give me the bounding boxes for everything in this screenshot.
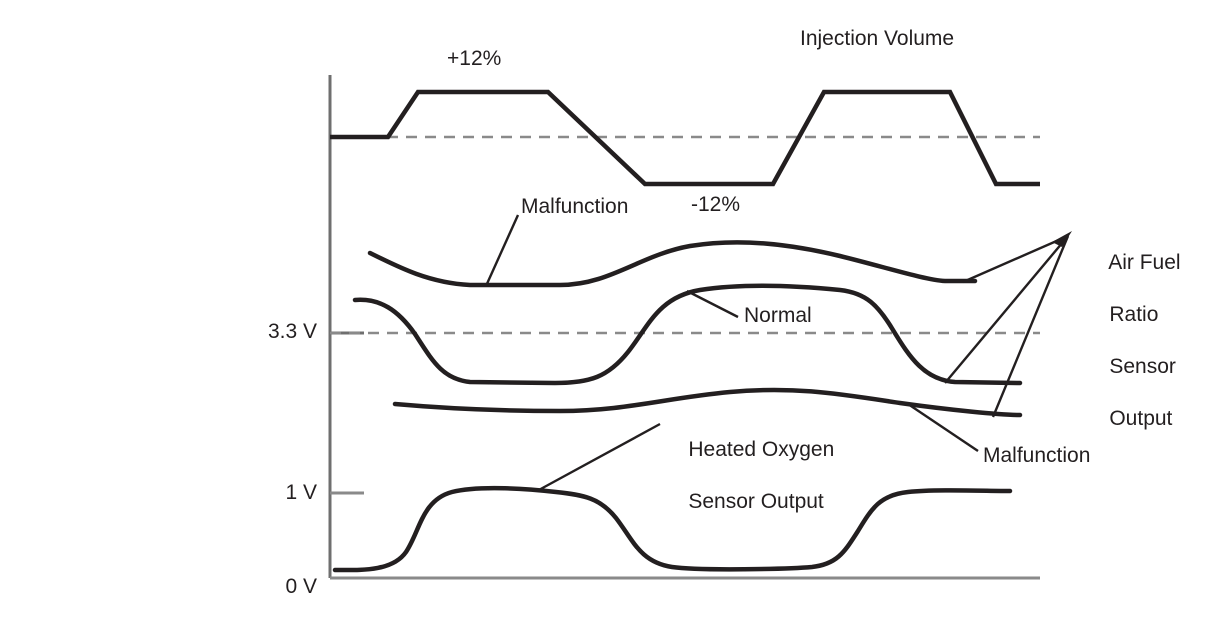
heated-oxygen-line-1: Heated Oxygen: [688, 438, 834, 461]
air-fuel-line-4: Output: [1109, 407, 1172, 430]
label-minus-12-percent: -12%: [691, 192, 740, 217]
af-curve-malfunction-upper: [370, 242, 975, 285]
page-title: Injection Volume: [800, 26, 954, 51]
arrowhead-icon: [1052, 231, 1072, 247]
air-fuel-line-3: Sensor: [1109, 355, 1176, 378]
waveform-figure: [0, 0, 1208, 644]
y-axis-label-0v: 0 V: [222, 575, 317, 599]
diagram-canvas: Injection Volume +12% -12% Malfunction N…: [0, 0, 1208, 644]
af-curve-normal: [355, 286, 1020, 383]
heated-oxygen-line-2: Sensor Output: [688, 490, 823, 513]
leader-malfunction-upper: [486, 215, 518, 286]
label-normal: Normal: [744, 303, 812, 328]
label-malfunction-upper: Malfunction: [521, 194, 628, 219]
label-plus-12-percent: +12%: [447, 46, 501, 71]
y-axis-label-3v3: 3.3 V: [222, 320, 317, 344]
label-malfunction-lower: Malfunction: [983, 443, 1090, 468]
leader-af-normal: [945, 236, 1068, 383]
leader-heated-oxygen: [537, 424, 660, 491]
injection-volume-waveform: [330, 92, 1040, 184]
air-fuel-line-1: Air Fuel: [1108, 251, 1180, 274]
leader-normal: [687, 291, 738, 317]
y-axis-label-1v: 1 V: [222, 481, 317, 505]
air-fuel-line-2: Ratio: [1109, 303, 1158, 326]
reference-lines: [330, 137, 1040, 333]
label-heated-oxygen-sensor-output: Heated Oxygen Sensor Output: [665, 411, 834, 541]
label-air-fuel-ratio-sensor-output: Air Fuel Ratio Sensor Output: [1086, 224, 1181, 458]
